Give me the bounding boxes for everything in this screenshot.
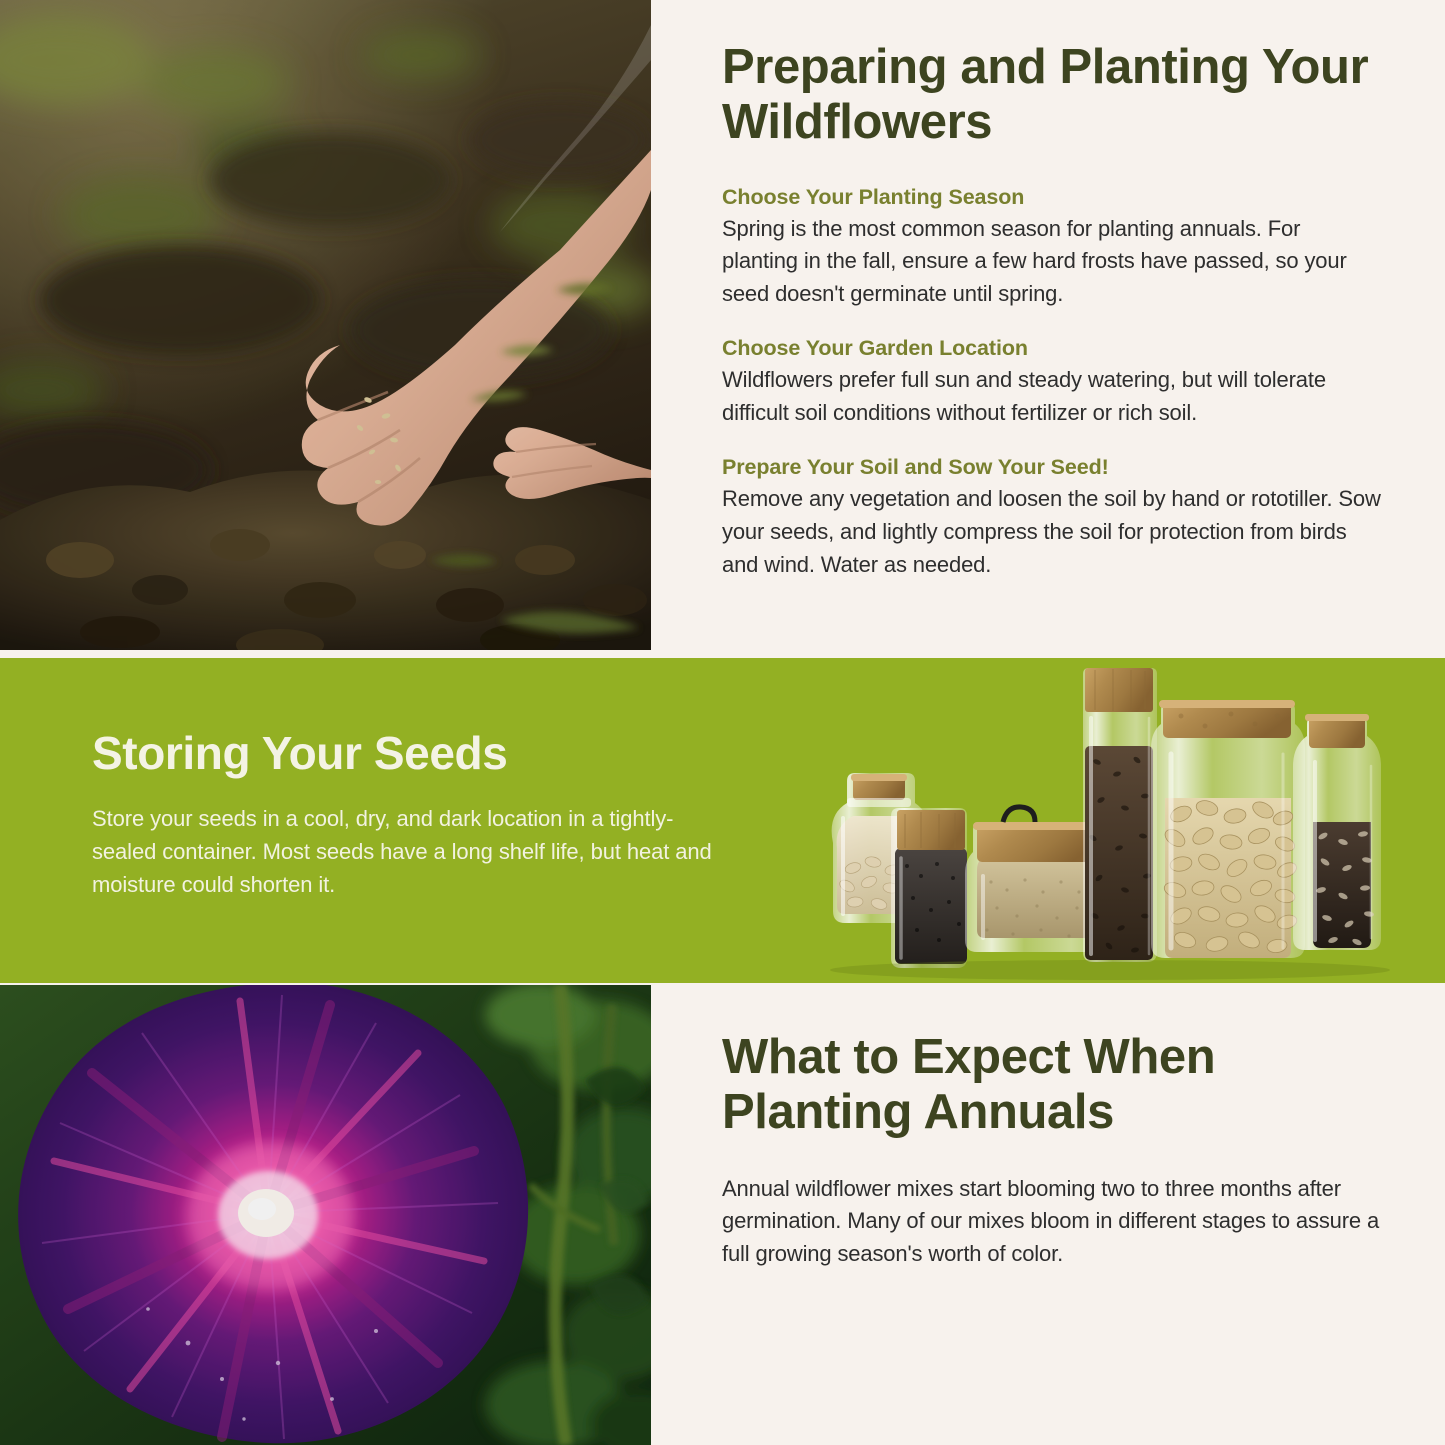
section-storing-your-seeds: Storing Your Seeds Store your seeds in a…	[0, 658, 1445, 983]
bottom-text-column: What to Expect When Planting Annuals Ann…	[722, 1030, 1382, 1270]
section-what-to-expect: What to Expect When Planting Annuals Ann…	[0, 985, 1445, 1445]
subheading-planting-season: Choose Your Planting Season	[722, 185, 1382, 210]
block-garden-location: Choose Your Garden Location Wildflowers …	[722, 336, 1382, 429]
body-garden-location: Wildflowers prefer full sun and steady w…	[722, 364, 1382, 429]
subheading-garden-location: Choose Your Garden Location	[722, 336, 1382, 361]
what-to-expect-body: Annual wildflower mixes start blooming t…	[722, 1173, 1382, 1271]
purple-morning-glory-flower-photo	[0, 985, 651, 1445]
block-prepare-soil: Prepare Your Soil and Sow Your Seed! Rem…	[722, 455, 1382, 581]
glass-jars-of-seeds-photo	[825, 658, 1405, 983]
section-preparing-and-planting: Preparing and Planting Your Wildflowers …	[0, 0, 1445, 655]
body-prepare-soil: Remove any vegetation and loosen the soi…	[722, 483, 1382, 581]
page-title: Preparing and Planting Your Wildflowers	[722, 40, 1382, 151]
infographic-page: Preparing and Planting Your Wildflowers …	[0, 0, 1445, 1445]
top-text-column: Preparing and Planting Your Wildflowers …	[722, 40, 1382, 581]
body-planting-season: Spring is the most common season for pla…	[722, 213, 1382, 311]
storing-seeds-title: Storing Your Seeds	[92, 726, 712, 780]
what-to-expect-title: What to Expect When Planting Annuals	[722, 1030, 1382, 1141]
hands-sowing-seeds-in-soil-photo	[0, 0, 651, 650]
subheading-prepare-soil: Prepare Your Soil and Sow Your Seed!	[722, 455, 1382, 480]
storing-seeds-body: Store your seeds in a cool, dry, and dar…	[92, 802, 712, 901]
green-text-column: Storing Your Seeds Store your seeds in a…	[92, 726, 712, 901]
block-planting-season: Choose Your Planting Season Spring is th…	[722, 185, 1382, 311]
